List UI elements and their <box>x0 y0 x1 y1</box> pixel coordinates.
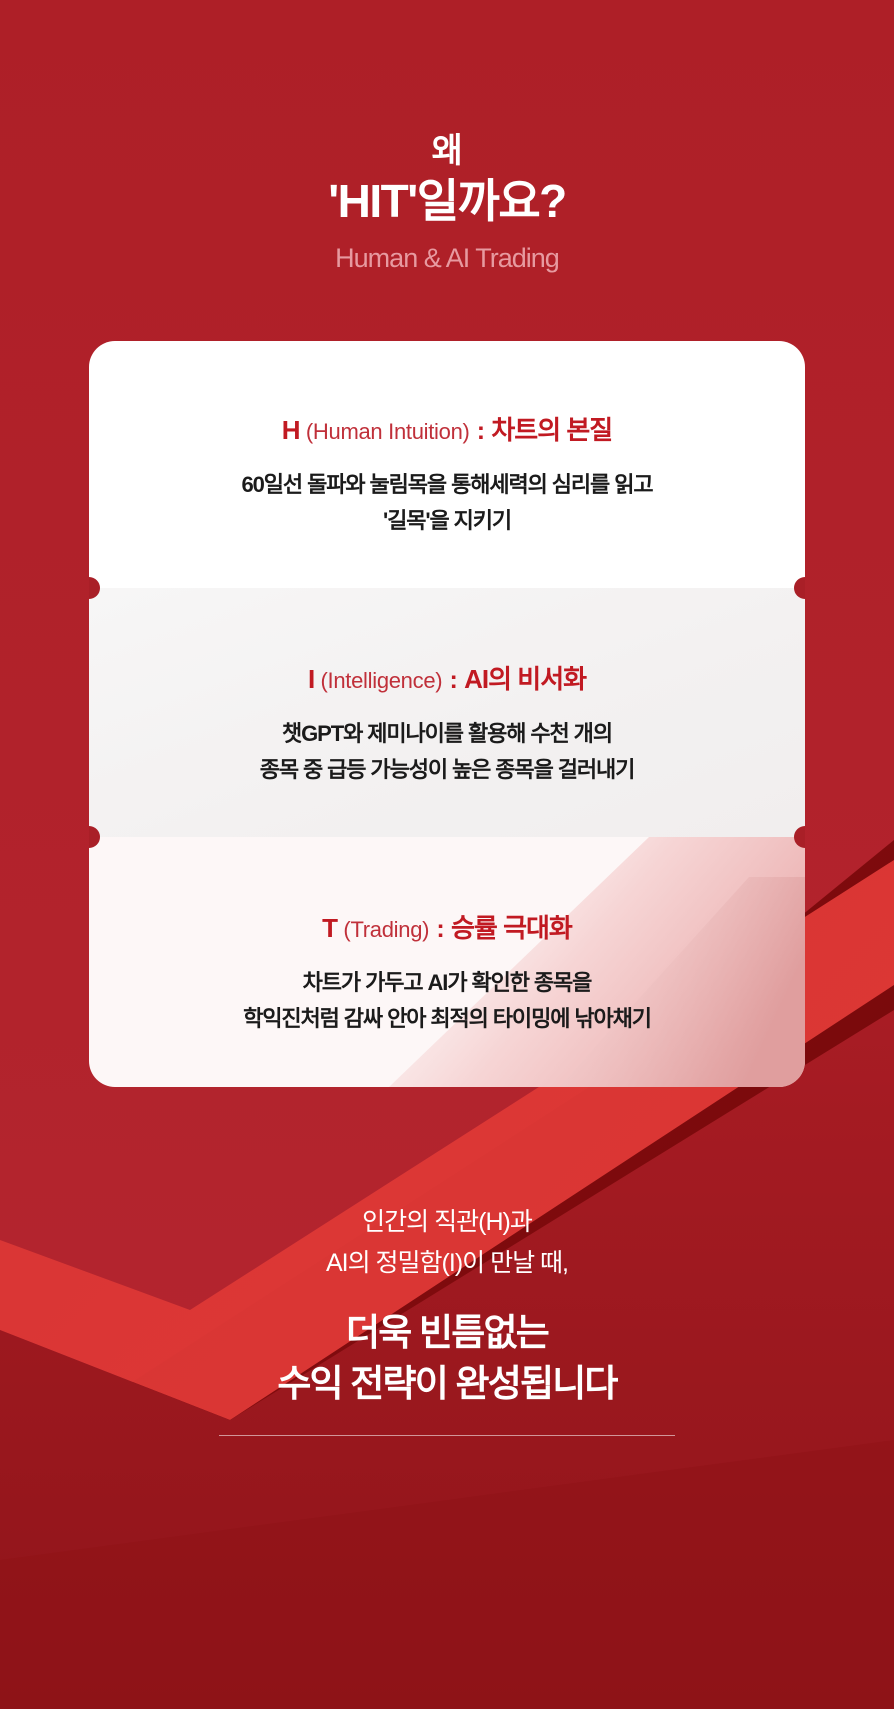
card-body-line: 학익진처럼 감싸 안아 최적의 타이밍에 낚아채기 <box>89 1001 805 1037</box>
card-korean-title: 승률 극대화 <box>451 913 572 943</box>
card-title: I (Intelligence) : AI의 비서화 <box>89 588 805 696</box>
card-paren: (Human Intuition) <box>306 419 470 444</box>
card-korean-title: 차트의 본질 <box>491 415 612 445</box>
card-body-line: 챗GPT와 제미나이를 활용해 수천 개의 <box>89 716 805 752</box>
header: 왜 'HIT'일까요? Human & AI Trading <box>0 132 894 274</box>
card-paren: (Trading) <box>343 917 429 942</box>
card-body-line: '길목'을 지키기 <box>89 503 805 539</box>
feature-card-stack: H (Human Intuition) : 차트의 본질 60일선 돌파와 눌림… <box>89 341 805 1087</box>
footer-lead-line: 인간의 직관(H)과 <box>0 1202 894 1243</box>
card-body: 챗GPT와 제미나이를 활용해 수천 개의 종목 중 급등 가능성이 높은 종목… <box>89 716 805 787</box>
header-subtitle: Human & AI Trading <box>0 243 894 274</box>
card-colon: : <box>435 915 445 943</box>
card-body: 60일선 돌파와 눌림목을 통해세력의 심리를 읽고 '길목'을 지키기 <box>89 467 805 538</box>
header-eyebrow: 왜 <box>0 132 894 171</box>
feature-card-human: H (Human Intuition) : 차트의 본질 60일선 돌파와 눌림… <box>89 341 805 588</box>
card-title: H (Human Intuition) : 차트의 본질 <box>89 341 805 447</box>
card-paren: (Intelligence) <box>321 668 443 693</box>
footer-divider <box>219 1435 675 1436</box>
card-korean-title: AI의 비서화 <box>464 664 586 694</box>
card-title: T (Trading) : 승률 극대화 <box>89 837 805 945</box>
footer-headline-line: 더욱 빈틈없는 <box>0 1307 894 1358</box>
feature-card-trading: T (Trading) : 승률 극대화 차트가 가두고 AI가 확인한 종목을… <box>89 837 805 1087</box>
footer: 인간의 직관(H)과 AI의 정밀함(I)이 만날 때, 더욱 빈틈없는 수익 … <box>0 1202 894 1436</box>
feature-card-intelligence: I (Intelligence) : AI의 비서화 챗GPT와 제미나이를 활… <box>89 588 805 837</box>
card-letter: T <box>322 913 337 943</box>
card-colon: : <box>448 666 458 694</box>
card-body-line: 종목 중 급등 가능성이 높은 종목을 걸러내기 <box>89 752 805 788</box>
footer-headline-line: 수익 전략이 완성됩니다 <box>0 1358 894 1409</box>
page-title: 'HIT'일까요? <box>0 173 894 231</box>
card-letter: H <box>282 415 300 445</box>
card-letter: I <box>308 664 314 694</box>
footer-headline: 더욱 빈틈없는 수익 전략이 완성됩니다 <box>0 1307 894 1409</box>
card-body-line: 60일선 돌파와 눌림목을 통해세력의 심리를 읽고 <box>89 467 805 503</box>
footer-lead-line: AI의 정밀함(I)이 만날 때, <box>0 1243 894 1284</box>
card-body: 차트가 가두고 AI가 확인한 종목을 학익진처럼 감싸 안아 최적의 타이밍에… <box>89 965 805 1036</box>
card-colon: : <box>476 417 486 445</box>
card-body-line: 차트가 가두고 AI가 확인한 종목을 <box>89 965 805 1001</box>
footer-lead: 인간의 직관(H)과 AI의 정밀함(I)이 만날 때, <box>0 1202 894 1283</box>
